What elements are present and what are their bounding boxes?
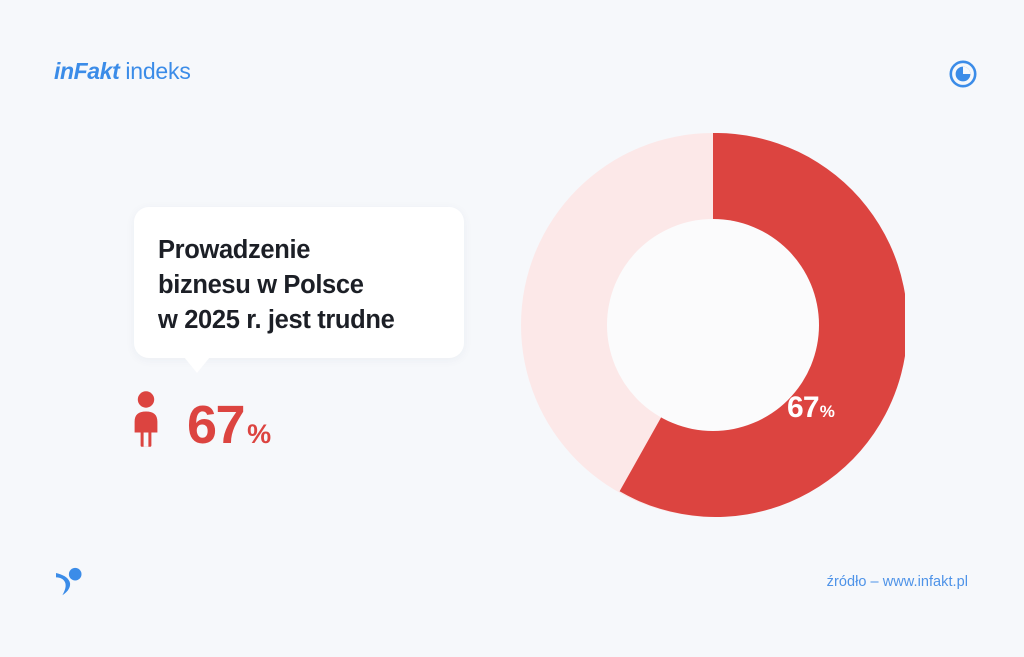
stat-value-number: 67 bbox=[187, 398, 244, 452]
stat-value-unit: % bbox=[247, 421, 271, 448]
donut-chart: 67 % bbox=[521, 133, 905, 517]
stat-row: 67 % bbox=[133, 391, 271, 452]
statement-bubble-tail bbox=[184, 357, 210, 373]
source-link[interactable]: źródło – www.infakt.pl bbox=[827, 574, 968, 590]
pie-chart-circle-icon bbox=[949, 60, 977, 88]
infakt-bird-mark-icon bbox=[52, 566, 84, 596]
donut-slice-label: 67 % bbox=[787, 393, 835, 423]
brand-logo-mark-text: inFakt bbox=[54, 60, 119, 83]
infographic-canvas: inFakt indeks Prowadzenie biznesu w Pols… bbox=[0, 0, 1024, 657]
brand-logo-sub-text: indeks bbox=[125, 60, 190, 83]
brand-logo: inFakt indeks bbox=[54, 60, 191, 83]
stat-value: 67 % bbox=[187, 398, 271, 452]
donut-slice-label-number: 67 bbox=[787, 393, 819, 423]
person-icon bbox=[133, 391, 159, 452]
statement-text: Prowadzenie biznesu w Polsce w 2025 r. j… bbox=[158, 233, 448, 338]
statement-bubble: Prowadzenie biznesu w Polsce w 2025 r. j… bbox=[134, 207, 464, 358]
donut-slice-label-unit: % bbox=[820, 403, 835, 420]
